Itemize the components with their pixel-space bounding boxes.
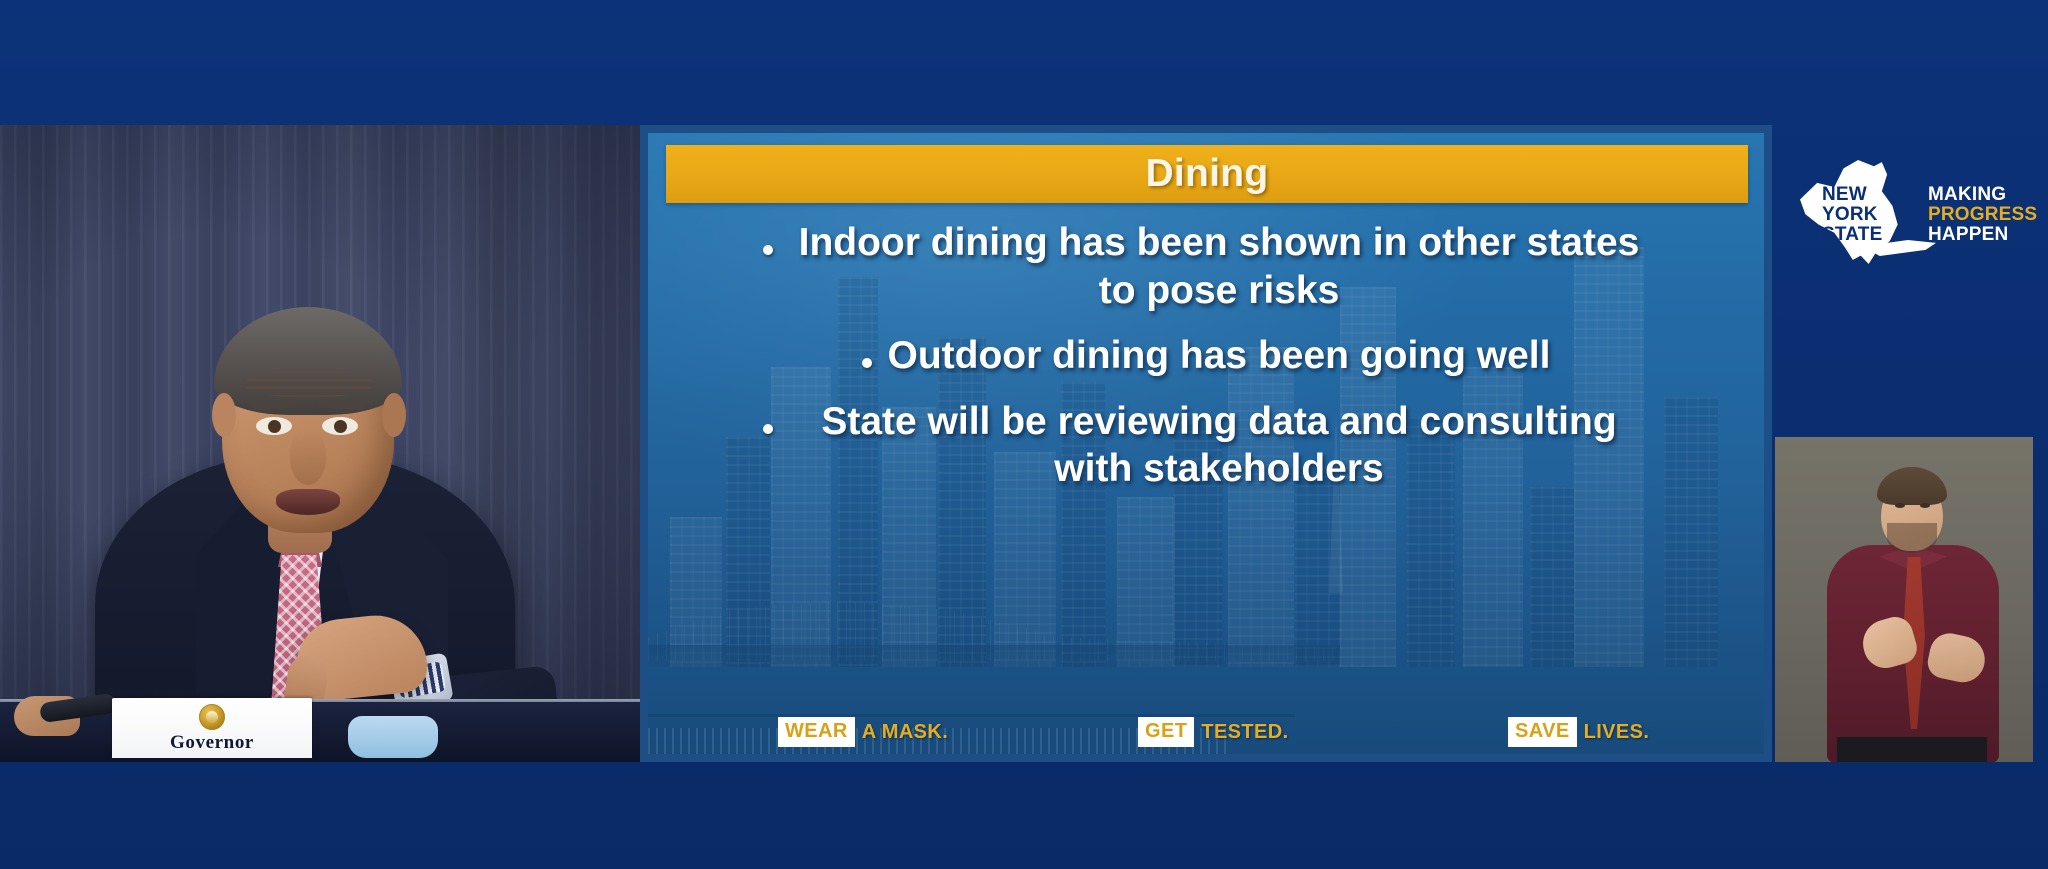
- nameplate: Governor: [112, 698, 312, 758]
- asl-interpreter-panel[interactable]: [1775, 437, 2033, 762]
- state-seal-icon: [199, 704, 225, 730]
- slogan-rest: LIVES.: [1577, 721, 1650, 744]
- face-mask-on-desk: [348, 716, 438, 758]
- speaker-nose: [290, 431, 326, 485]
- slogan-highlight: WEAR: [778, 717, 855, 747]
- forehead-lines: [246, 371, 372, 397]
- slogan-get-tested: GET TESTED.: [1138, 717, 1289, 747]
- nameplate-label: Governor: [112, 732, 312, 754]
- bullet-text: Outdoor dining has been going well: [888, 332, 1551, 380]
- broadcast-screen: Governor: [0, 0, 2048, 869]
- slide-canvas: Dining Indoor dining has been shown in o…: [648, 133, 1764, 754]
- bullet-item: Indoor dining has been shown in other st…: [688, 219, 1724, 314]
- logo-line-new: NEW: [1822, 184, 1867, 206]
- interpreter-eye-left: [1895, 503, 1905, 508]
- logo-line-state: STATE: [1822, 224, 1882, 246]
- slide-title-banner: Dining: [666, 145, 1748, 203]
- bullet-dot-icon: [763, 424, 773, 434]
- slogan-save-lives: SAVE LIVES.: [1508, 717, 1649, 747]
- slide-panel[interactable]: Dining Indoor dining has been shown in o…: [640, 125, 1772, 762]
- slogan-rest: A MASK.: [855, 721, 949, 744]
- new-york-state-logo: NEW YORK STATE MAKING PROGRESS HAPPEN: [1800, 156, 2030, 266]
- bullet-list: Indoor dining has been shown in other st…: [688, 219, 1724, 493]
- speaker-ear-right: [382, 393, 406, 437]
- bullet-item: Outdoor dining has been going well: [688, 332, 1724, 380]
- slide-title: Dining: [1145, 152, 1268, 196]
- bullet-dot-icon: [862, 358, 872, 368]
- bullet-text: State will be reviewing data and consult…: [789, 398, 1649, 493]
- interpreter-eye-right: [1920, 503, 1930, 508]
- interpreter-pants: [1837, 737, 1987, 762]
- logo-line-happen: HAPPEN: [1928, 224, 2008, 246]
- logo-line-york: YORK: [1822, 204, 1878, 226]
- logo-line-progress: PROGRESS: [1928, 204, 2037, 226]
- bullet-dot-icon: [763, 245, 773, 255]
- speaker-mouth: [276, 489, 340, 515]
- speaker-pupil-right: [334, 420, 347, 433]
- bullet-item: State will be reviewing data and consult…: [688, 398, 1724, 493]
- slogan-highlight: SAVE: [1508, 717, 1577, 747]
- speaker-video-panel[interactable]: Governor: [0, 125, 640, 762]
- logo-line-making: MAKING: [1928, 184, 2006, 206]
- slogan-rest: TESTED.: [1194, 721, 1288, 744]
- speaker-pupil-left: [268, 420, 281, 433]
- slogan-wear-a-mask: WEAR A MASK.: [778, 717, 948, 747]
- slogan-highlight: GET: [1138, 717, 1194, 747]
- speaker-ear-left: [212, 393, 236, 437]
- bullet-text: Indoor dining has been shown in other st…: [789, 219, 1649, 314]
- interpreter-beard: [1887, 523, 1937, 553]
